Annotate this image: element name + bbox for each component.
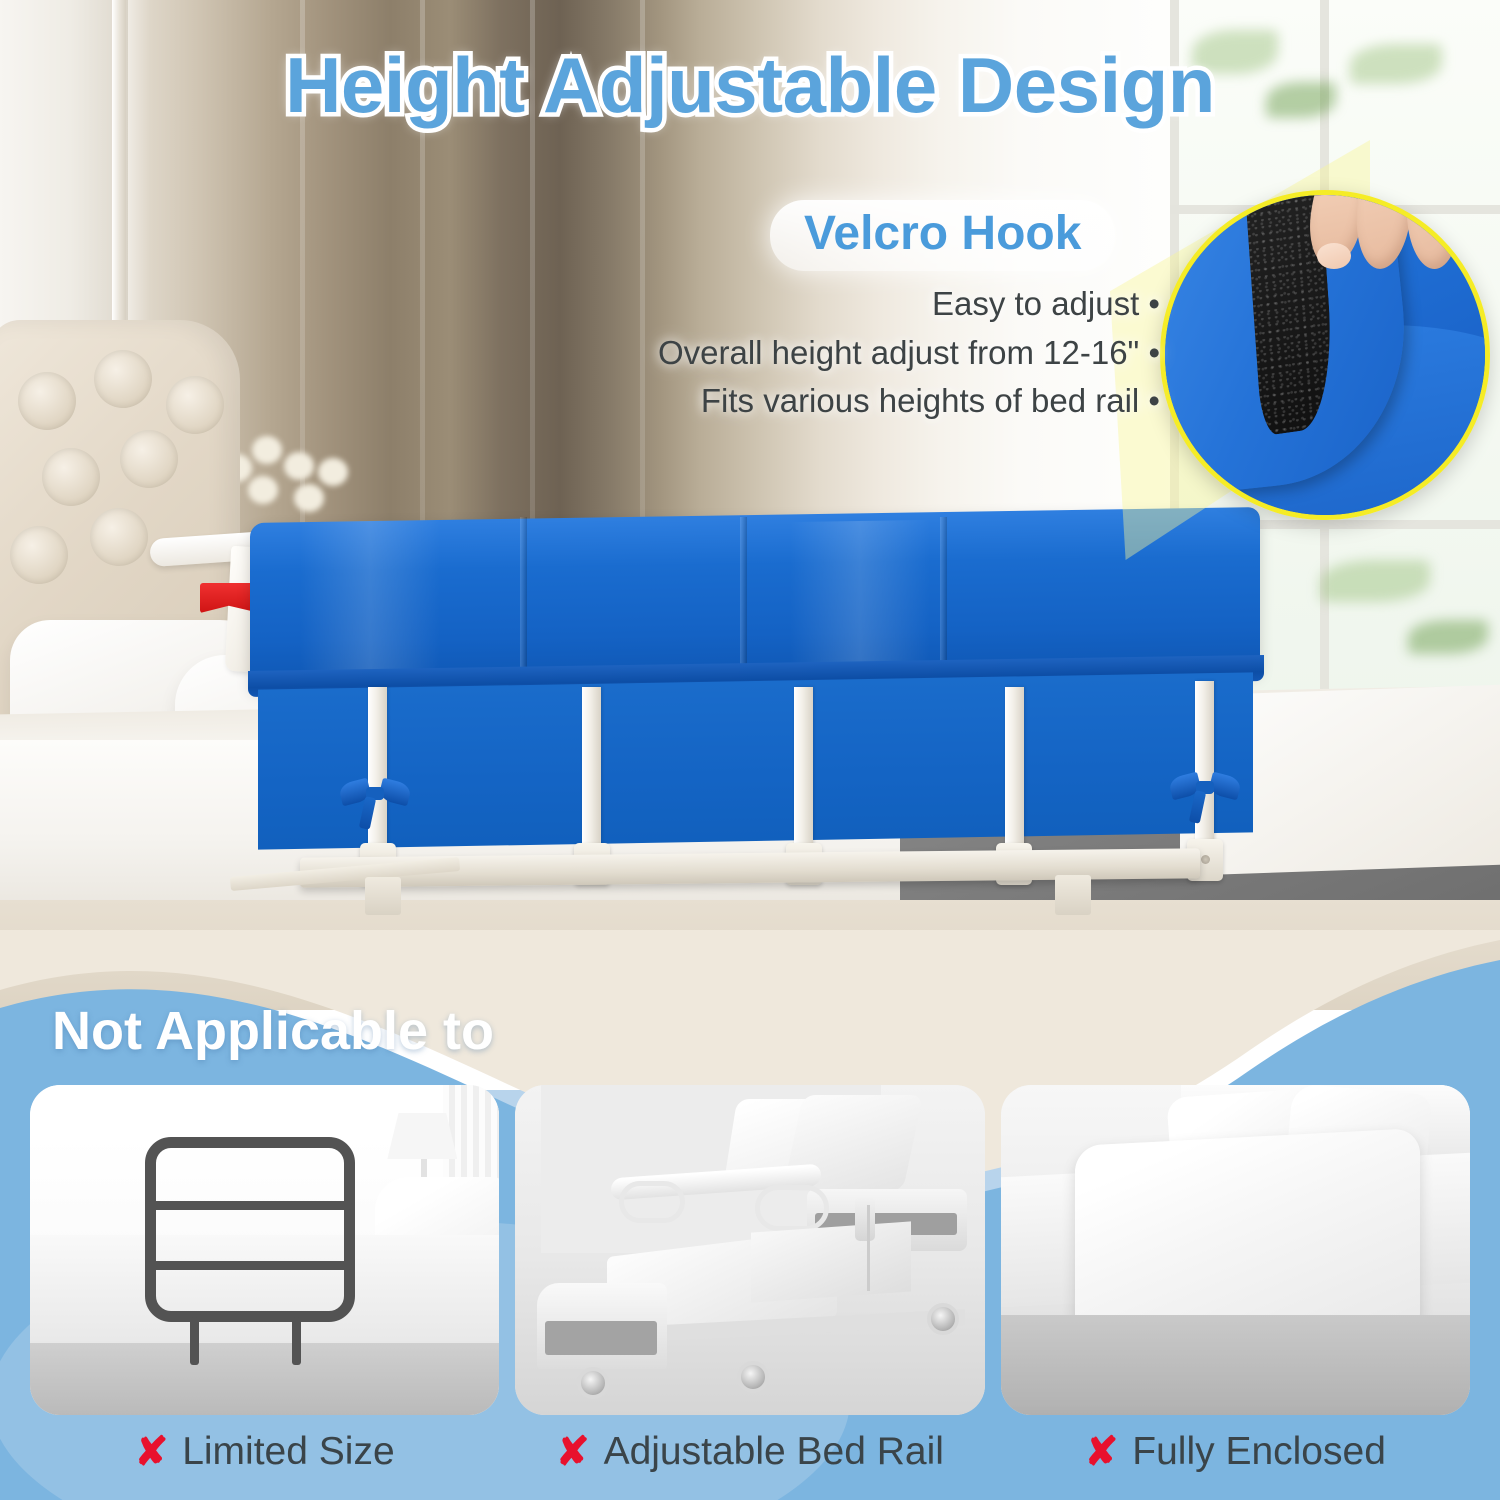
cover-skirt bbox=[258, 672, 1253, 849]
ribbon-bow bbox=[1170, 771, 1240, 807]
support-post bbox=[794, 687, 813, 867]
caption-label: Limited Size bbox=[182, 1430, 394, 1474]
x-mark-icon: ✘ bbox=[135, 1432, 169, 1472]
caption-fully-enclosed: ✘ Fully Enclosed bbox=[1001, 1420, 1470, 1484]
cover-seam bbox=[940, 517, 947, 679]
not-applicable-heading: Not Applicable to bbox=[52, 1000, 494, 1062]
ribbon-bow bbox=[340, 777, 410, 813]
velcro-hook-badge: Velcro Hook bbox=[770, 200, 1115, 271]
feature-bullet: Easy to adjust • bbox=[560, 280, 1160, 329]
caption-label: Fully Enclosed bbox=[1132, 1430, 1386, 1474]
cover-seam bbox=[520, 517, 527, 679]
cover-seam bbox=[740, 517, 747, 679]
not-applicable-image-limited-size bbox=[30, 1085, 499, 1415]
support-post bbox=[582, 687, 601, 867]
caption-limited-size: ✘ Limited Size bbox=[30, 1420, 499, 1484]
velcro-closeup-circle bbox=[1160, 190, 1490, 520]
feature-bullet: Overall height adjust from 12-16" • bbox=[560, 329, 1160, 378]
not-applicable-gallery bbox=[30, 1085, 1470, 1415]
x-mark-icon: ✘ bbox=[1085, 1432, 1119, 1472]
mount-foot bbox=[1055, 875, 1091, 915]
assist-rail-icon bbox=[145, 1137, 355, 1322]
caption-label: Adjustable Bed Rail bbox=[604, 1430, 944, 1474]
support-post bbox=[1005, 687, 1024, 867]
fabric-sheen bbox=[300, 520, 440, 672]
hand bbox=[1305, 190, 1490, 335]
page-title: Height Adjustable Design bbox=[0, 40, 1500, 131]
caption-adjustable-bed-rail: ✘ Adjustable Bed Rail bbox=[515, 1420, 984, 1484]
not-applicable-image-adjustable-bed-rail bbox=[515, 1085, 984, 1415]
not-applicable-image-fully-enclosed bbox=[1001, 1085, 1470, 1415]
not-applicable-captions: ✘ Limited Size ✘ Adjustable Bed Rail ✘ F… bbox=[30, 1420, 1470, 1484]
fabric-sheen bbox=[790, 520, 930, 672]
x-mark-icon: ✘ bbox=[556, 1432, 590, 1472]
fingernail bbox=[1317, 243, 1351, 269]
bed-rail-product bbox=[150, 495, 1280, 925]
foliage bbox=[1320, 560, 1430, 602]
hero-scene: Height Adjustable Design Velcro Hook Eas… bbox=[0, 0, 1500, 1010]
foliage bbox=[1408, 620, 1488, 654]
mount-foot bbox=[365, 877, 401, 915]
feature-bullet: Fits various heights of bed rail • bbox=[560, 377, 1160, 426]
feature-bullet-list: Easy to adjust • Overall height adjust f… bbox=[560, 280, 1160, 426]
